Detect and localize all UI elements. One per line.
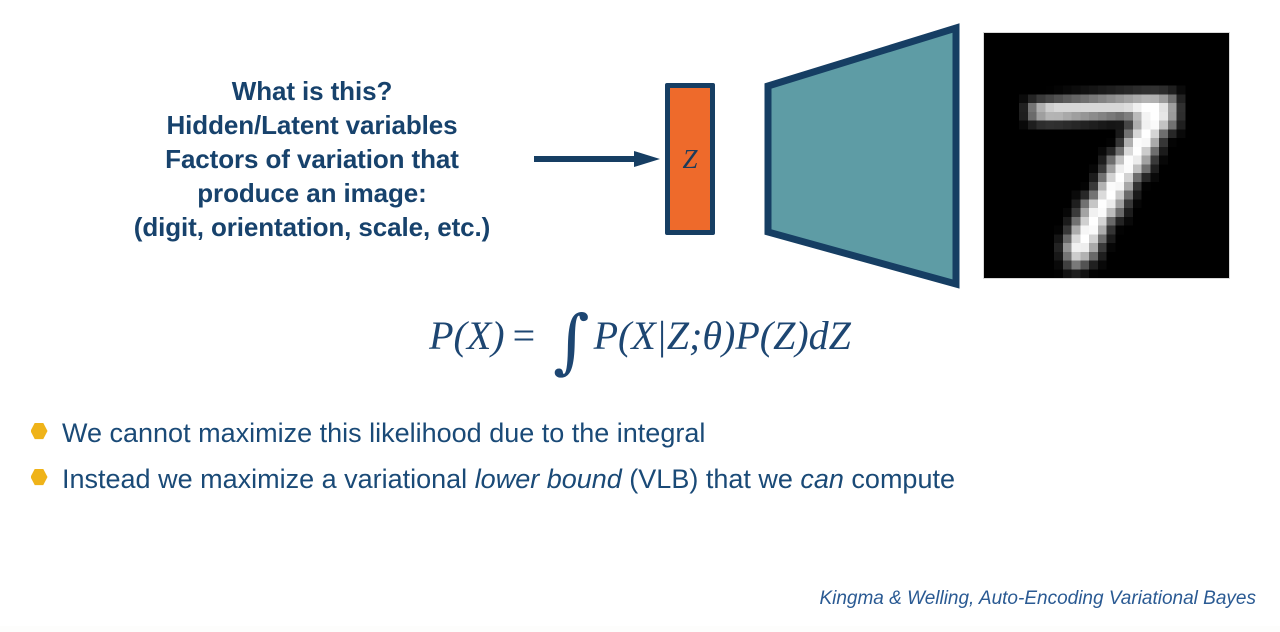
latent-variable-label: Z [682,146,697,173]
bullet-2-segment-2: lower bound [475,464,622,494]
heading-line-4: produce an image: [92,176,532,210]
heading-block: What is this? Hidden/Latent variables Fa… [92,74,532,244]
bullet-2-segment-3: (VLB) that we [622,464,801,494]
latent-variable-box: Z [665,83,715,235]
marginal-likelihood-formula: P(X)=∫P(X|Z;θ)P(Z)dZ [0,312,1280,359]
bullet-text-1: We cannot maximize this likelihood due t… [62,414,705,452]
bullet-2-segment-5: compute [844,464,955,494]
list-item: We cannot maximize this likelihood due t… [28,414,1128,452]
formula-theta: θ [702,313,722,358]
bullet-2-segment-4: can [800,464,844,494]
integral-icon: ∫ [553,300,589,382]
slide-canvas: What is this? Hidden/Latent variables Fa… [0,0,1280,632]
mnist-digit-canvas [984,33,1229,278]
bullet-list: We cannot maximize this likelihood due t… [28,414,1128,506]
hexagon-bullet-icon [28,460,50,494]
bullet-text-2: Instead we maximize a variational lower … [62,460,955,498]
bullet-1-segment-1: We cannot maximize this likelihood due t… [62,418,705,448]
mnist-digit-seven [983,32,1230,279]
right-arrow-icon [534,151,660,167]
formula-lhs: P(X) [429,313,505,358]
bottom-strip [0,626,1280,632]
bullet-2-segment-1: Instead we maximize a variational [62,464,475,494]
formula-rhs-1: P(X|Z; [594,313,703,358]
formula-rhs-2: )P(Z)dZ [722,313,851,358]
heading-line-3: Factors of variation that [92,142,532,176]
heading-line-1: What is this? [92,74,532,108]
formula-equals: = [513,313,536,358]
list-item: Instead we maximize a variational lower … [28,460,1128,498]
decoder-trapezoid [762,22,962,290]
hexagon-bullet-icon [28,414,50,448]
citation-text: Kingma & Welling, Auto-Encoding Variatio… [819,588,1256,610]
heading-line-5: (digit, orientation, scale, etc.) [92,210,532,244]
heading-line-2: Hidden/Latent variables [92,108,532,142]
